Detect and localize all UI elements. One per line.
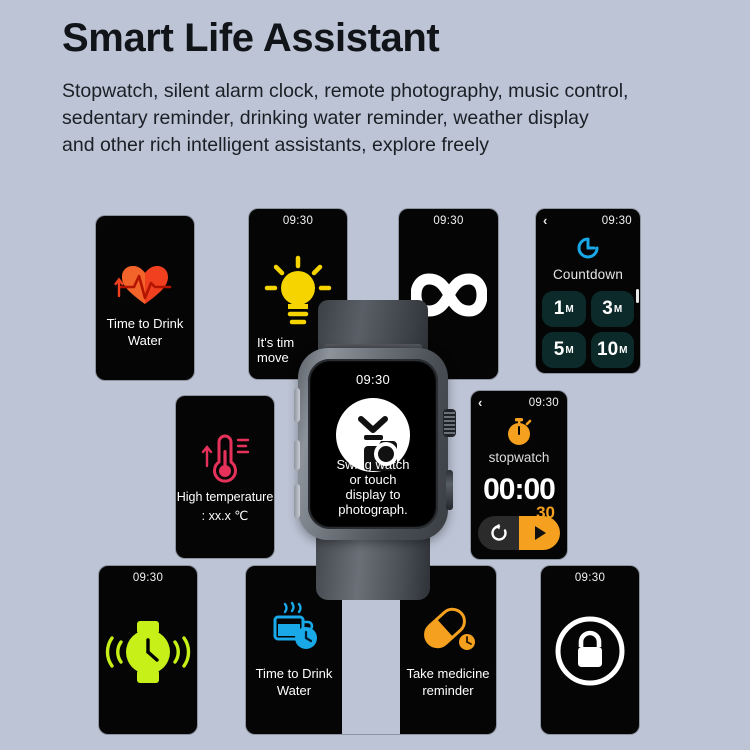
status-time: 09:30	[99, 572, 197, 584]
countdown-preset-5m[interactable]: 5M	[542, 332, 586, 368]
watch-bezel: 09:30 Swing watch or touch dis	[308, 359, 438, 529]
countdown-timer-icon	[536, 235, 640, 261]
subtitle-line-3: and other rich intelligent assistants, e…	[62, 132, 702, 159]
stopwatch-icon	[471, 417, 567, 447]
caption-line-1: Swing watch	[311, 457, 435, 472]
thermometer-icon	[176, 426, 274, 488]
screen-countdown: ‹ 09:30 Countdown 1M 3M 5M 10M	[536, 209, 640, 373]
scrollbar[interactable]	[636, 289, 639, 303]
caption-line-4: photograph.	[311, 502, 435, 517]
subtitle-line-1: Stopwatch, silent alarm clock, remote ph…	[62, 78, 702, 105]
reset-icon	[489, 523, 509, 543]
watch-left-button-bottom[interactable]	[294, 484, 300, 518]
preset-unit: M	[614, 304, 622, 315]
preset-unit: M	[619, 345, 627, 356]
cup-clock-icon	[246, 600, 342, 654]
screen-lock: 09:30	[541, 566, 639, 734]
screen-silent-alarm: 09:30	[99, 566, 197, 734]
status-time: 09:30	[541, 572, 639, 584]
screen-high-temperature: High temperature : xx.x ℃	[176, 396, 274, 558]
countdown-title: Countdown	[536, 267, 640, 282]
drink-cup-label-line-2: Water	[246, 683, 342, 700]
preset-unit: M	[565, 304, 573, 315]
smartwatch-device: 09:30 Swing watch or touch dis	[288, 300, 458, 600]
drink-water-label-line-1: Time to Drink	[96, 316, 194, 333]
page-subtitle: Stopwatch, silent alarm clock, remote ph…	[62, 78, 702, 159]
watch-left-button-top[interactable]	[294, 388, 300, 422]
stopwatch-play-button[interactable]	[519, 516, 560, 550]
back-chevron-icon[interactable]: ‹	[543, 214, 547, 227]
watch-crown[interactable]	[444, 410, 455, 436]
play-icon	[531, 524, 549, 542]
stopwatch-controls	[478, 516, 560, 550]
heart-pulse-icon	[96, 260, 194, 308]
promo-page: Smart Life Assistant Stopwatch, silent a…	[0, 0, 750, 750]
stopwatch-elapsed: 00:00	[471, 473, 567, 507]
medicine-label-line-1: Take medicine	[400, 666, 496, 683]
vibrating-watch-alarm-icon	[99, 618, 197, 686]
caption-line-3: display to	[311, 487, 435, 502]
screen-drink-water-heart: Time to Drink Water	[96, 216, 194, 380]
status-time: 09:30	[529, 397, 559, 409]
preset-value: 3	[602, 298, 613, 320]
watch-caption: Swing watch or touch display to photogra…	[311, 457, 435, 517]
preset-value: 5	[554, 339, 565, 361]
page-title: Smart Life Assistant	[62, 16, 439, 61]
stopwatch-title: stopwatch	[471, 450, 567, 465]
preset-value: 1	[554, 298, 565, 320]
status-time: 09:30	[249, 215, 347, 227]
medicine-label-line-2: reminder	[400, 683, 496, 700]
preset-unit: M	[565, 345, 573, 356]
lock-circle-icon	[541, 614, 639, 688]
countdown-preset-grid: 1M 3M 5M 10M	[542, 291, 634, 368]
temperature-label-line-1: High temperature	[176, 489, 274, 506]
subtitle-line-2: sedentary reminder, drinking water remin…	[62, 105, 702, 132]
watch-case: 09:30 Swing watch or touch dis	[298, 348, 448, 540]
watch-left-button-middle[interactable]	[294, 440, 300, 470]
stopwatch-reset-button[interactable]	[478, 516, 519, 550]
preset-value: 10	[597, 339, 618, 361]
back-chevron-icon[interactable]: ‹	[478, 396, 482, 409]
drink-water-label-line-2: Water	[96, 333, 194, 350]
countdown-preset-10m[interactable]: 10M	[591, 332, 635, 368]
watch-status-time: 09:30	[311, 372, 435, 387]
pill-capsule-clock-icon	[400, 606, 496, 654]
status-time: 09:30	[399, 215, 498, 227]
drink-cup-label-line-1: Time to Drink	[246, 666, 342, 683]
countdown-preset-1m[interactable]: 1M	[542, 291, 586, 327]
caption-line-2: or touch	[311, 472, 435, 487]
status-time: 09:30	[602, 215, 632, 227]
watch-screen[interactable]: 09:30 Swing watch or touch dis	[311, 362, 435, 526]
countdown-preset-3m[interactable]: 3M	[591, 291, 635, 327]
temperature-label-line-2: : xx.x ℃	[176, 508, 274, 525]
watch-side-button[interactable]	[446, 470, 453, 510]
screen-stopwatch: ‹ 09:30 stopwatch 00:00 30	[471, 391, 567, 559]
